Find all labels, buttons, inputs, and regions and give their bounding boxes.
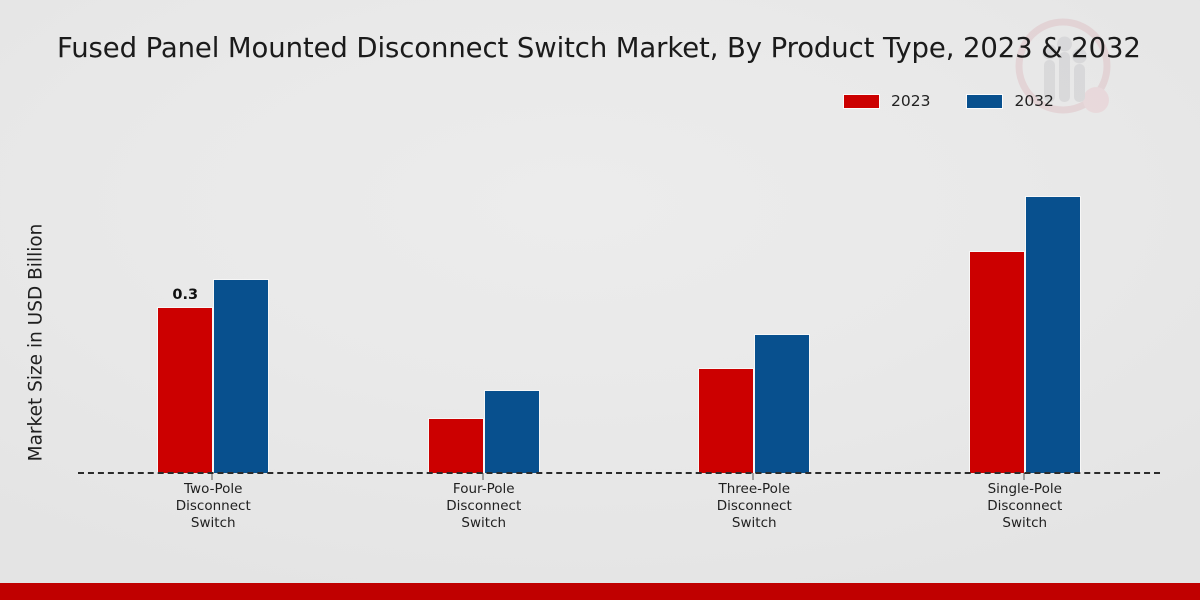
bar-2032[interactable] — [484, 390, 540, 473]
category-label-line: Disconnect — [78, 498, 349, 515]
category-label-line: Disconnect — [349, 498, 620, 515]
bar-group — [619, 140, 890, 473]
bar-2023[interactable] — [698, 368, 754, 473]
legend-item-2032[interactable]: 2032 — [966, 92, 1053, 110]
bar-pair — [969, 140, 1081, 473]
chart-figure: Fused Panel Mounted Disconnect Switch Ma… — [0, 0, 1200, 600]
bar-group — [890, 140, 1161, 473]
legend-label-2023: 2023 — [891, 92, 930, 110]
category-label-line: Disconnect — [890, 498, 1161, 515]
bar-2023[interactable] — [428, 418, 484, 474]
category-label-line: Switch — [890, 515, 1161, 532]
bar-group — [349, 140, 620, 473]
x-axis-category-label: Two-PoleDisconnectSwitch — [78, 481, 349, 532]
bar-pair — [428, 140, 540, 473]
legend-swatch-2032 — [966, 94, 1003, 109]
x-axis-baseline — [78, 472, 1160, 474]
x-axis-tick — [753, 473, 754, 480]
category-label-line: Switch — [78, 515, 349, 532]
footer-accent-bar — [0, 583, 1200, 600]
category-label-line: Switch — [349, 515, 620, 532]
category-label-line: Switch — [619, 515, 890, 532]
bar-group: 0.3 — [78, 140, 349, 473]
category-label-line: Two-Pole — [78, 481, 349, 498]
x-axis-category-label: Three-PoleDisconnectSwitch — [619, 481, 890, 532]
bar-pair: 0.3 — [157, 140, 269, 473]
category-label-line: Single-Pole — [890, 481, 1161, 498]
bar-2032[interactable] — [213, 279, 269, 473]
chart-legend: 2023 2032 — [843, 92, 1054, 110]
bar-value-label: 0.3 — [172, 287, 198, 303]
category-label-line: Three-Pole — [619, 481, 890, 498]
bar-pair — [698, 140, 810, 473]
x-axis-tick — [1023, 473, 1024, 480]
plot-area: 0.3 — [78, 140, 1160, 473]
legend-swatch-2023 — [843, 94, 880, 109]
category-label-line: Disconnect — [619, 498, 890, 515]
bar-2032[interactable] — [754, 334, 810, 473]
x-axis-category-label: Single-PoleDisconnectSwitch — [890, 481, 1161, 532]
bar-2023[interactable]: 0.3 — [157, 307, 213, 474]
x-axis-tick — [212, 473, 213, 480]
bar-2023[interactable] — [969, 251, 1025, 473]
chart-title: Fused Panel Mounted Disconnect Switch Ma… — [57, 32, 1200, 64]
legend-label-2032: 2032 — [1014, 92, 1053, 110]
category-label-line: Four-Pole — [349, 481, 620, 498]
y-axis-title: Market Size in USD Billion — [26, 163, 47, 523]
x-axis-tick — [482, 473, 483, 480]
x-axis-category-label: Four-PoleDisconnectSwitch — [349, 481, 620, 532]
x-axis-category-labels: Two-PoleDisconnectSwitchFour-PoleDisconn… — [78, 481, 1160, 532]
legend-item-2023[interactable]: 2023 — [843, 92, 930, 110]
bar-2032[interactable] — [1025, 196, 1081, 474]
